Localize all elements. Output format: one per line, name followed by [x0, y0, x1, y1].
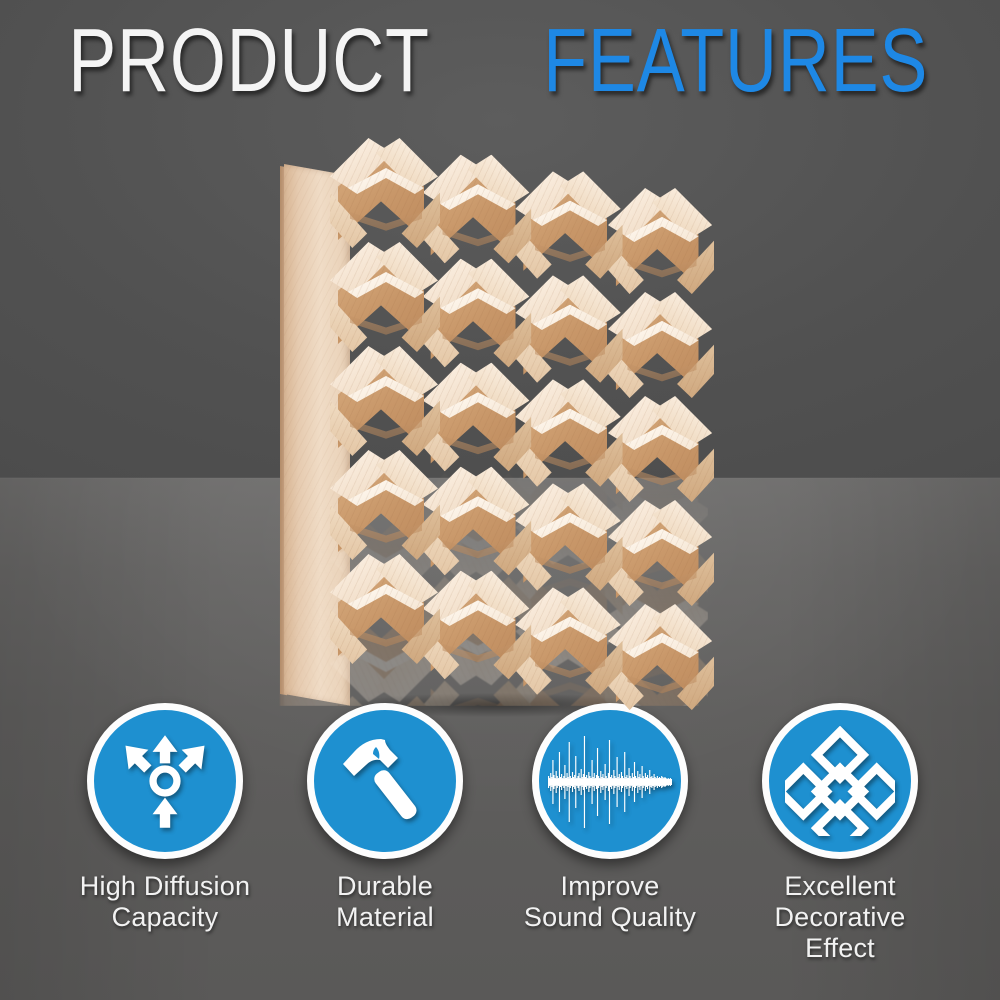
feature-label-line3: Effect: [720, 933, 960, 964]
product-image-wooden-diffuser-panel: [278, 146, 708, 706]
feature-label: Excellent Decorative Effect: [720, 871, 960, 964]
sound-waveform-icon: [548, 726, 672, 836]
lattice-cell: [330, 138, 442, 250]
feature-label-line1: High Diffusion: [45, 871, 285, 902]
feature-label-line1: Excellent: [720, 871, 960, 902]
lattice-cell: [330, 450, 442, 562]
lattice-cell: [330, 242, 442, 354]
feature-list: High Diffusion Capacity Durable: [0, 703, 1000, 1000]
feature-label: High Diffusion Capacity: [45, 871, 285, 933]
feature-item-excellent-decorative-effect[interactable]: Excellent Decorative Effect: [720, 703, 960, 964]
feature-label-line2: Decorative: [720, 902, 960, 933]
feature-icon-circle[interactable]: [762, 703, 918, 859]
feature-label-line1: Durable: [265, 871, 505, 902]
product-features-infographic: PRODUCTFEATURES: [0, 0, 1000, 1000]
page-title: PRODUCTFEATURES: [0, 12, 1000, 110]
panel-lattice-grid: [330, 146, 708, 706]
panel-scene: [278, 146, 708, 706]
feature-label: Improve Sound Quality: [490, 871, 730, 933]
feature-item-improve-sound-quality[interactable]: Improve Sound Quality: [490, 703, 730, 933]
feature-label-line2: Sound Quality: [490, 902, 730, 933]
diffusion-arrows-icon: [113, 729, 217, 833]
lattice-cell: [330, 346, 442, 458]
feature-label: Durable Material: [265, 871, 505, 933]
title-word-features: FEATURES: [543, 12, 928, 110]
feature-icon-circle[interactable]: [307, 703, 463, 859]
feature-icon-circle[interactable]: [87, 703, 243, 859]
feature-item-high-diffusion-capacity[interactable]: High Diffusion Capacity: [45, 703, 285, 933]
lattice-cell: [330, 554, 442, 666]
feature-label-line1: Improve: [490, 871, 730, 902]
decorative-diamond-knot-icon: [785, 726, 895, 836]
feature-icon-circle[interactable]: [532, 703, 688, 859]
feature-item-durable-material[interactable]: Durable Material: [265, 703, 505, 933]
feature-label-line2: Material: [265, 902, 505, 933]
title-word-product: PRODUCT: [68, 12, 430, 110]
feature-label-line2: Capacity: [45, 902, 285, 933]
hammer-icon: [335, 731, 435, 831]
